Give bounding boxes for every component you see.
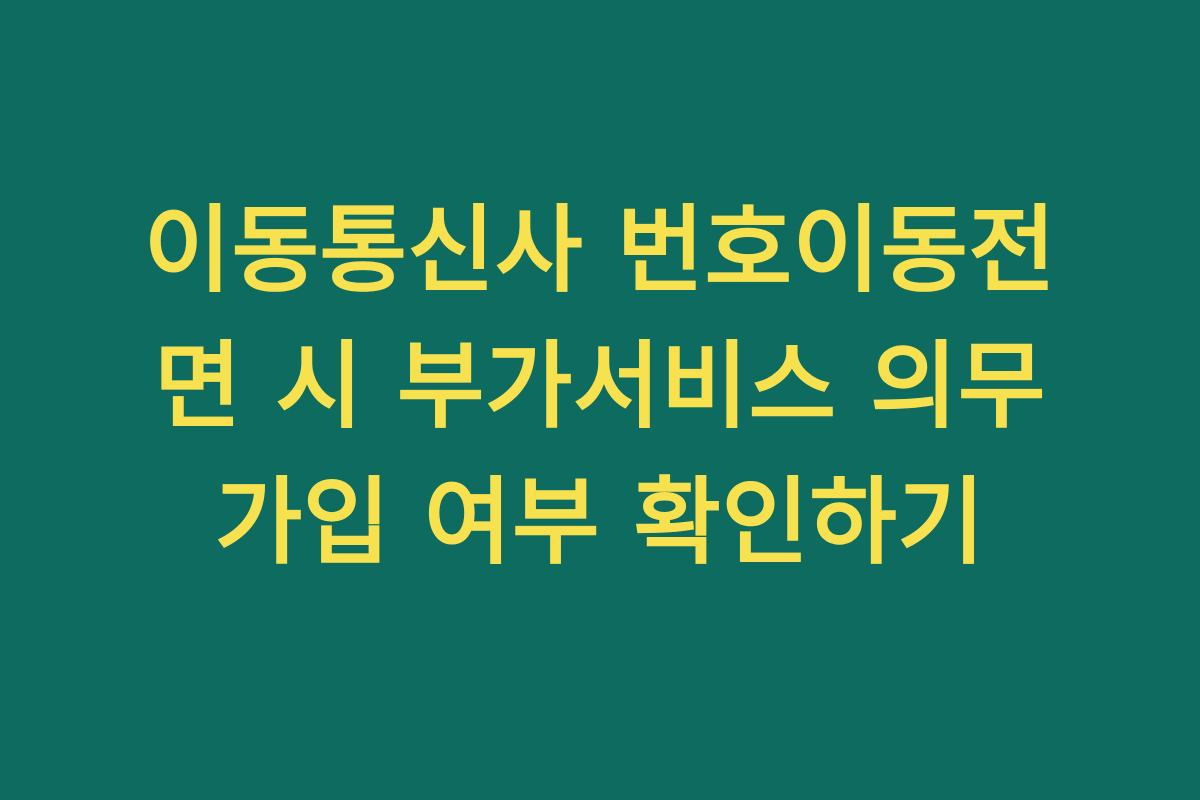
title-line-2: 면 시 부가서비스 의무 xyxy=(70,319,1130,455)
page-title: 이동통신사 번호이동전 면 시 부가서비스 의무 가입 여부 확인하기 xyxy=(70,183,1130,591)
title-line-3: 가입 여부 확인하기 xyxy=(70,455,1130,591)
title-line-1: 이동통신사 번호이동전 xyxy=(70,183,1130,319)
title-card: 이동통신사 번호이동전 면 시 부가서비스 의무 가입 여부 확인하기 xyxy=(0,0,1200,800)
